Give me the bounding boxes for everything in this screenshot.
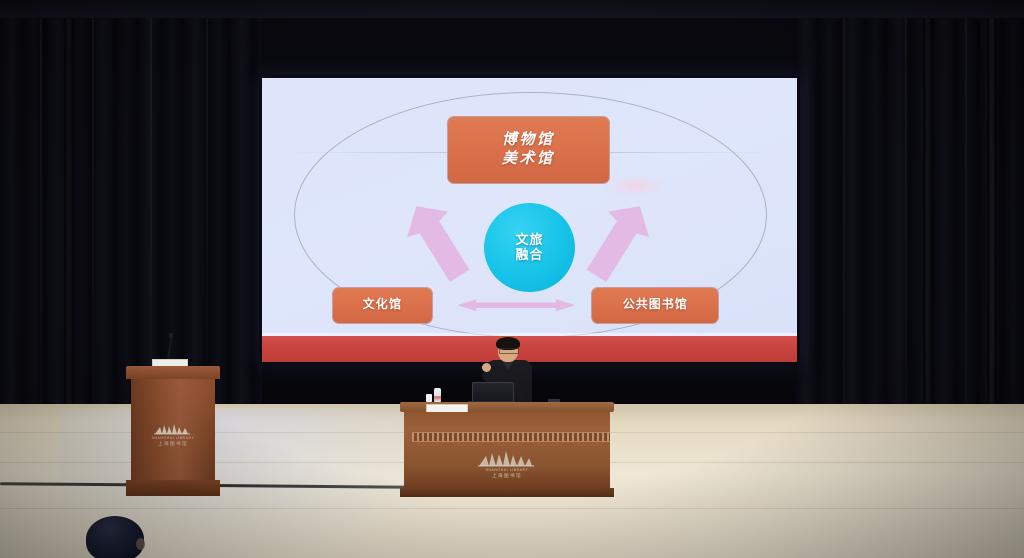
podium: SHANGHAI LIBRARY 上海图书馆 [126, 366, 220, 496]
audience-member-head [86, 516, 144, 558]
podium-emblem-cn: 上海图书馆 [150, 441, 196, 447]
library-logo-icon [153, 423, 193, 435]
desk-emblem-cn: 上海图书馆 [472, 473, 542, 479]
desk-water-bottle [434, 388, 441, 402]
node-museum-line2: 美术馆 [502, 150, 555, 170]
stage-curtain-right [795, 18, 1024, 442]
diagram-hub-culture-tourism: 文旅 融合 [484, 203, 575, 292]
desk-cup [426, 394, 432, 402]
desk-emblem-latin: SHANGHAI LIBRARY [472, 468, 542, 472]
podium-emblem-latin: SHANGHAI LIBRARY [150, 436, 196, 440]
podium-top [126, 366, 220, 379]
projection-screen: 博物馆 美术馆 文旅 融合 文化馆 公共图书馆 [259, 75, 800, 365]
node-public-library-label: 公共图书馆 [623, 297, 688, 313]
lecture-hall-scene: 博物馆 美术馆 文旅 融合 文化馆 公共图书馆 [0, 0, 1024, 558]
speaker-desk: SHANGHAI LIBRARY 上海图书馆 [400, 402, 614, 497]
screen-glare [604, 180, 666, 192]
speaker-glasses-icon [499, 348, 519, 354]
desk-emblem: SHANGHAI LIBRARY 上海图书馆 [472, 450, 542, 479]
diagram-node-museum: 博物馆 美术馆 [447, 116, 610, 184]
library-logo-icon [476, 450, 538, 467]
hub-line2: 融合 [515, 248, 543, 263]
diagram-node-public-library: 公共图书馆 [591, 287, 719, 324]
floor-plank [0, 508, 1024, 509]
desk-front-panel: SHANGHAI LIBRARY 上海图书馆 [404, 412, 610, 488]
stage-curtain-left [0, 18, 262, 404]
podium-emblem: SHANGHAI LIBRARY 上海图书馆 [150, 423, 196, 447]
node-museum-line1: 博物馆 [502, 131, 555, 151]
podium-body: SHANGHAI LIBRARY 上海图书馆 [131, 379, 215, 480]
diagram-node-cultural-center: 文化馆 [332, 287, 434, 324]
desk-decorative-trim [412, 432, 610, 442]
desk-base [400, 488, 614, 497]
podium-base [126, 480, 220, 496]
audience-member-ear [136, 538, 145, 550]
speaker-hand [482, 363, 491, 372]
podium-microphone-head-icon [169, 333, 173, 338]
hub-line1: 文旅 [515, 233, 543, 248]
node-cultural-center-label: 文化馆 [363, 297, 403, 313]
presentation-slide: 博物馆 美术馆 文旅 融合 文化馆 公共图书馆 [262, 78, 797, 362]
